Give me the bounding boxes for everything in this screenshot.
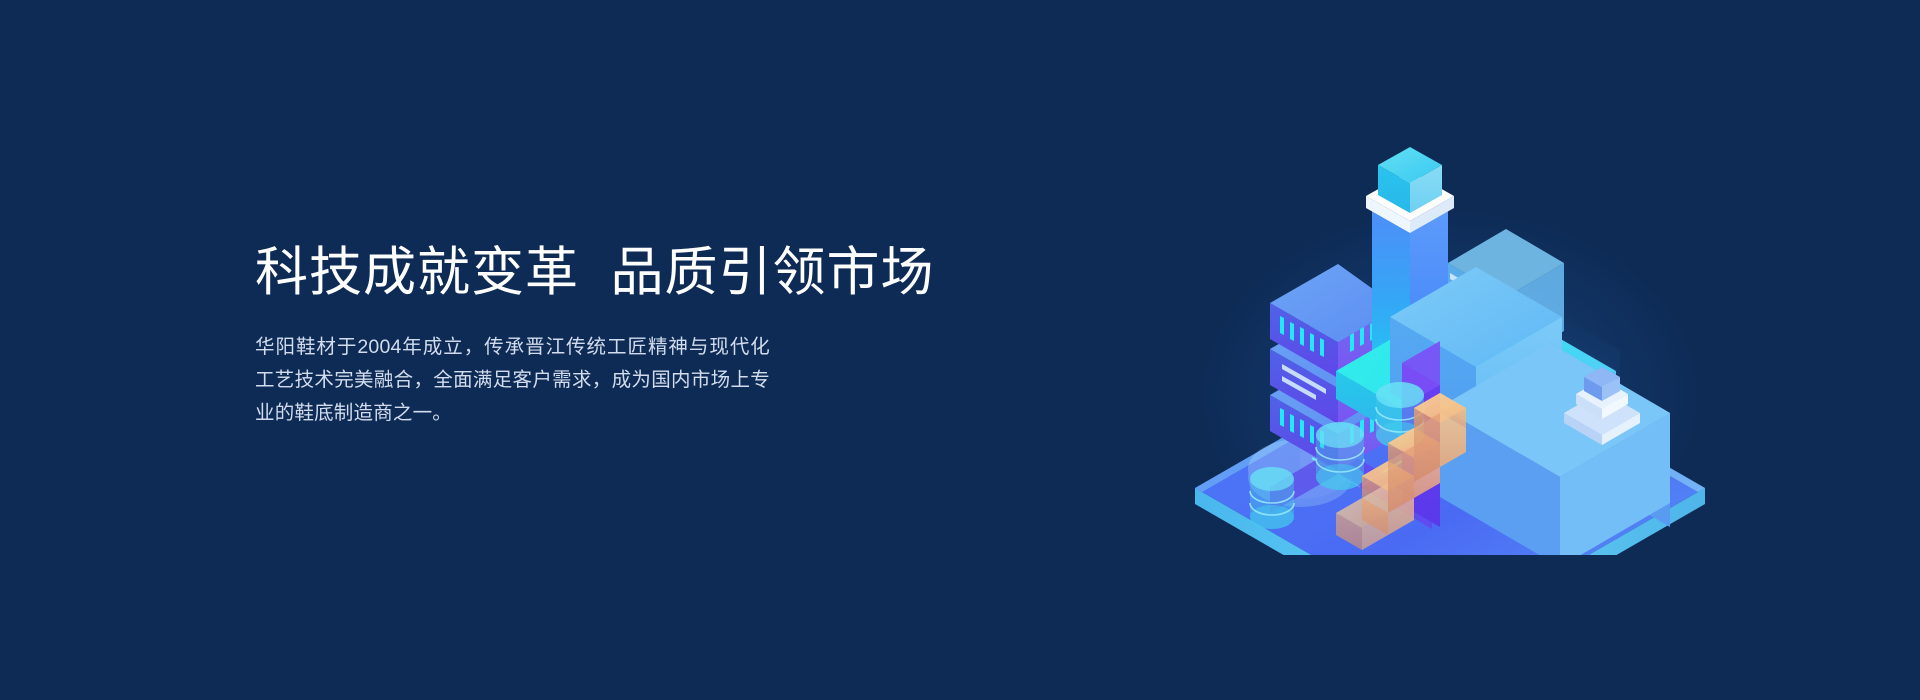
hero-description: 华阳鞋材于2004年成立，传承晋江传统工匠精神与现代化工艺技术完美融合，全面满足…	[255, 302, 770, 430]
tank-middle	[1316, 422, 1364, 490]
hero-banner: 科技成就变革 品质引领市场 华阳鞋材于2004年成立，传承晋江传统工匠精神与现代…	[0, 0, 1920, 700]
page-title: 科技成就变革 品质引领市场	[255, 243, 1015, 302]
hero-text-block: 科技成就变革 品质引领市场 华阳鞋材于2004年成立，传承晋江传统工匠精神与现代…	[255, 243, 1015, 430]
tank-front	[1250, 467, 1294, 529]
isometric-city-illustration	[1150, 95, 1750, 555]
